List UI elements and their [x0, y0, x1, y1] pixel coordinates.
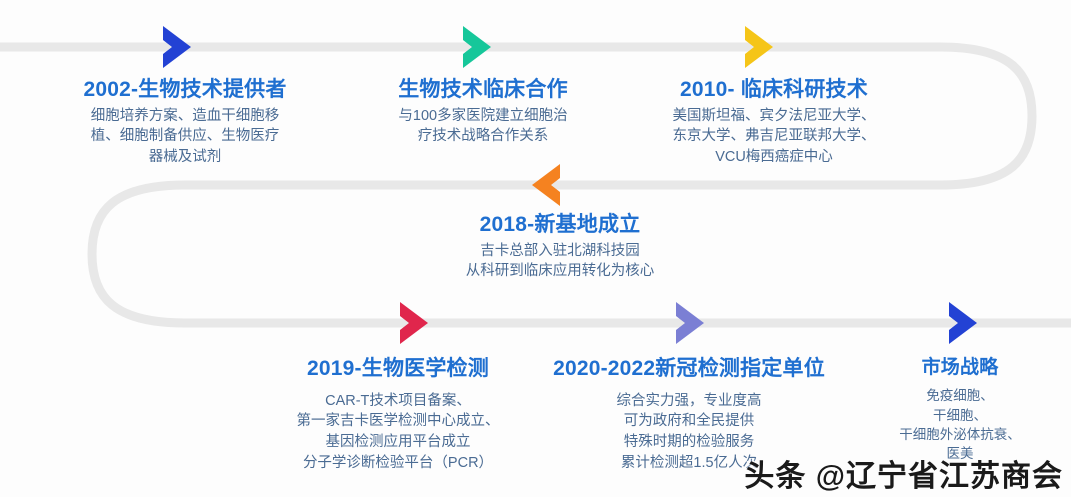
- milestone-clinical-cooperation: 生物技术临床合作 与100多家医院建立细胞治 疗技术战略合作关系: [338, 78, 628, 147]
- milestone-2002: 2002-生物技术提供者 细胞培养方案、造血干细胞移 植、细胞制备供应、生物医疗…: [40, 78, 330, 168]
- milestone-2002-description: 细胞培养方案、造血干细胞移 植、细胞制备供应、生物医疗 器械及试剂: [40, 106, 330, 168]
- milestone-2020-2022-description: 综合实力强，专业度高 可为政府和全民提供 特殊时期的检验服务 累计检测超1.5亿…: [524, 391, 854, 473]
- milestone-2020-2022: 2020-2022新冠检测指定单位 综合实力强，专业度高 可为政府和全民提供 特…: [524, 357, 854, 473]
- milestone-2010: 2010- 临床科研技术 美国斯坦福、宾夕法尼亚大学、 东京大学、弗吉尼亚联邦大…: [614, 78, 934, 168]
- milestone-2020-2022-title: 2020-2022新冠检测指定单位: [524, 357, 854, 382]
- milestone-2019-description: CAR-T技术项目备案、 第一家吉卡医学检测中心成立、 基因检测应用平台成立 分…: [268, 391, 528, 473]
- milestone-2018-title: 2018-新基地成立: [410, 213, 710, 238]
- chevron-yellow-right-icon: [737, 23, 781, 71]
- milestone-2018-description: 吉卡总部入驻北湖科技园 从科研到临床应用转化为核心: [410, 241, 710, 282]
- chevron-green-right-icon: [455, 23, 499, 71]
- infographic-canvas: 2002-生物技术提供者 细胞培养方案、造血干细胞移 植、细胞制备供应、生物医疗…: [0, 0, 1071, 497]
- chevron-blue-right-icon: [155, 23, 199, 71]
- chevron-orange-left-icon: [524, 161, 568, 209]
- milestone-2019: 2019-生物医学检测 CAR-T技术项目备案、 第一家吉卡医学检测中心成立、 …: [268, 357, 528, 473]
- milestone-2010-description: 美国斯坦福、宾夕法尼亚大学、 东京大学、弗吉尼亚联邦大学、 VCU梅西癌症中心: [614, 106, 934, 168]
- milestone-clinical-cooperation-description: 与100多家医院建立细胞治 疗技术战略合作关系: [338, 106, 628, 147]
- chevron-purple-right-icon: [668, 299, 712, 347]
- chevron-red-right-icon: [392, 299, 436, 347]
- milestone-2002-title: 2002-生物技术提供者: [40, 78, 330, 103]
- milestone-market-strategy-title: 市场战略: [850, 357, 1070, 379]
- milestone-clinical-cooperation-title: 生物技术临床合作: [338, 78, 628, 103]
- milestone-market-strategy: 市场战略 免疫细胞、 干细胞、 干细胞外泌体抗衰、 医美: [850, 357, 1070, 463]
- chevron-blue-right-icon-2: [941, 299, 985, 347]
- milestone-2010-title: 2010- 临床科研技术: [614, 78, 934, 103]
- milestone-2018: 2018-新基地成立 吉卡总部入驻北湖科技园 从科研到临床应用转化为核心: [410, 213, 710, 282]
- milestone-2019-title: 2019-生物医学检测: [268, 357, 528, 382]
- milestone-market-strategy-description: 免疫细胞、 干细胞、 干细胞外泌体抗衰、 医美: [850, 386, 1070, 463]
